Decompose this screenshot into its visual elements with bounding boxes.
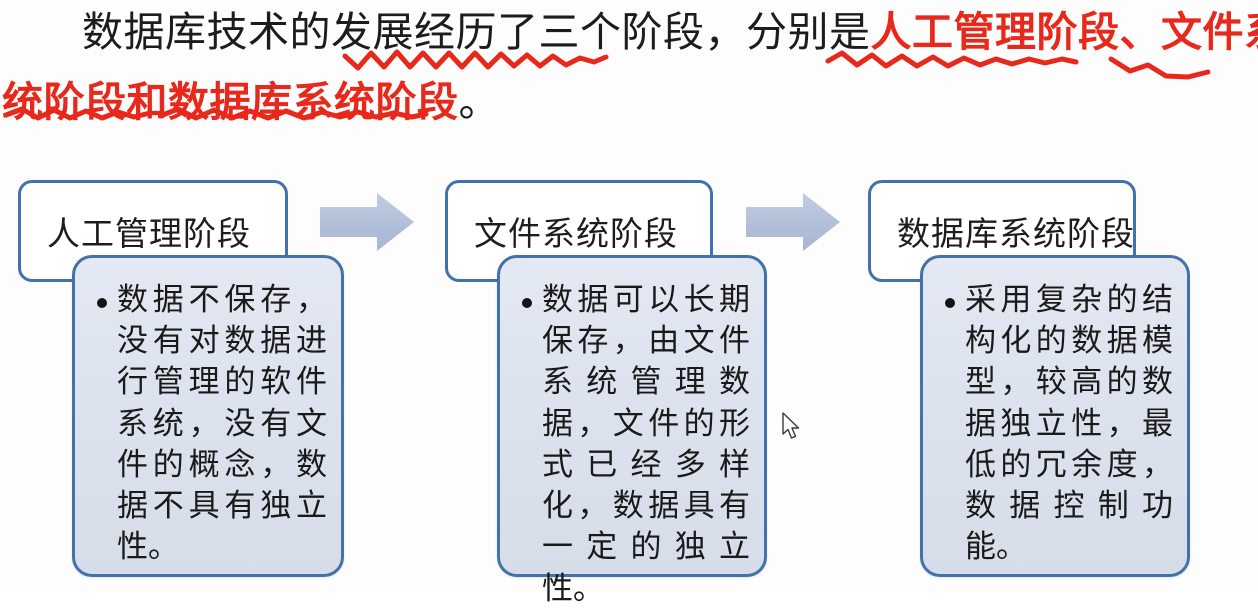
stage-2-body-card[interactable]: 数据可以长期保存，由文件系统管理数据，文件的形式已经多样化，数据具有一定的独立性… (497, 255, 767, 577)
stage-3-title: 数据库系统阶段 (897, 207, 1135, 255)
stage-3-body-card[interactable]: 采用复杂的结构化的数据模型，较高的数据独立性，最低的冗余度，数据控制功能。 (920, 255, 1190, 577)
bullet-dot-icon (97, 298, 107, 308)
mouse-cursor-arrow-pointer-icon (782, 412, 804, 442)
stage-1-body-card[interactable]: 数据不保存，没有对数据进行管理的软件系统，没有文件的概念，数据不具有独立性。 (72, 255, 344, 577)
three-stage-diagram: 人工管理阶段 数据不保存，没有对数据进行管理的软件系统，没有文件的概念，数据不具… (0, 0, 1258, 592)
stage-1-title: 人工管理阶段 (47, 207, 251, 255)
bullet-dot-icon (522, 298, 532, 308)
stage-2-title: 文件系统阶段 (474, 207, 678, 255)
arrow-2-right-arrow-icon (744, 190, 844, 254)
arrow-1-right-arrow-icon (318, 190, 418, 254)
stage-1-bullet-text: 数据不保存，没有对数据进行管理的软件系统，没有文件的概念，数据不具有独立性。 (117, 280, 327, 569)
bullet-dot-icon (945, 298, 955, 308)
stage-3-bullet-text: 采用复杂的结构化的数据模型，较高的数据独立性，最低的冗余度，数据控制功能。 (965, 280, 1173, 569)
stage-2-bullet-text: 数据可以长期保存，由文件系统管理数据，文件的形式已经多样化，数据具有一定的独立性… (542, 280, 750, 610)
stage-1-bullet-row: 数据不保存，没有对数据进行管理的软件系统，没有文件的概念，数据不具有独立性。 (75, 258, 341, 569)
stage-3-bullet-row: 采用复杂的结构化的数据模型，较高的数据独立性，最低的冗余度，数据控制功能。 (923, 258, 1187, 569)
stage-2-bullet-row: 数据可以长期保存，由文件系统管理数据，文件的形式已经多样化，数据具有一定的独立性… (500, 258, 764, 610)
